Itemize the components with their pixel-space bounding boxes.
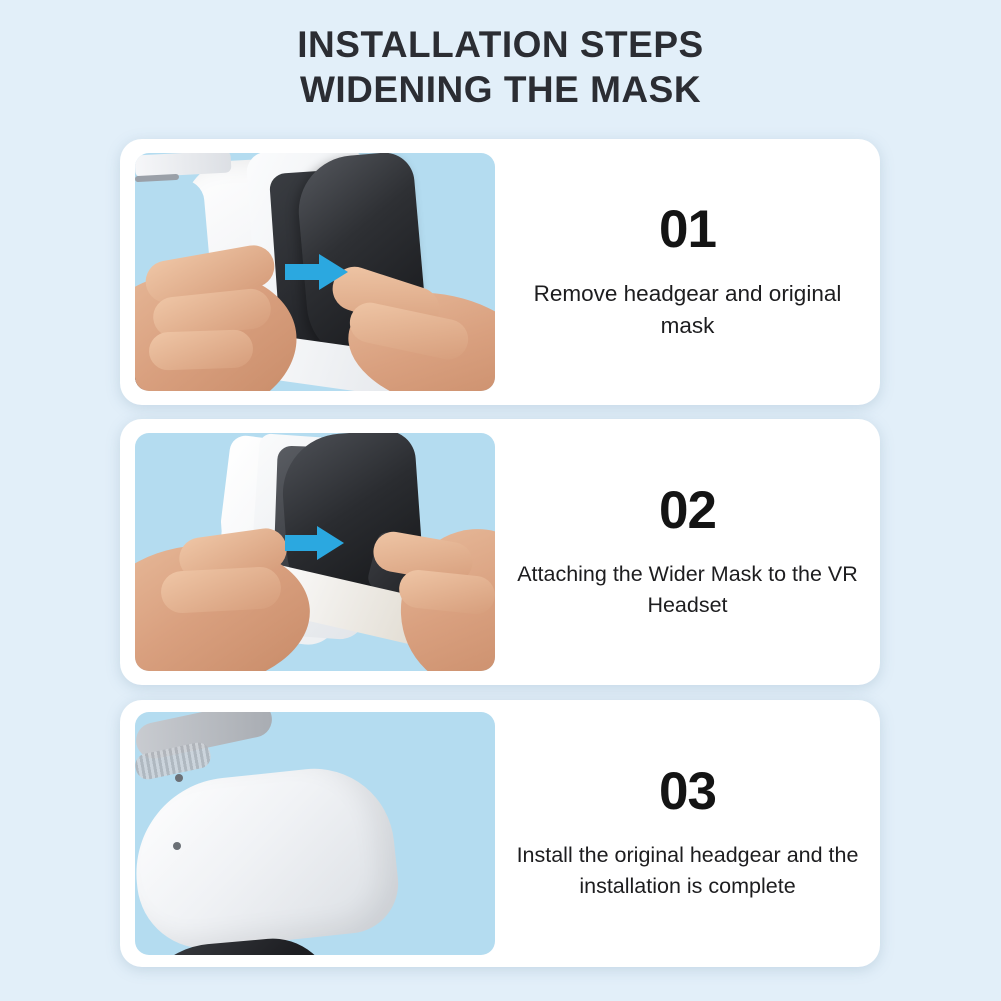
page-title: INSTALLATION STEPS WIDENING THE MASK bbox=[0, 22, 1001, 112]
step-text-2: 02 Attaching the Wider Mask to the VR He… bbox=[495, 484, 880, 620]
step-card-3: 03 Install the original headgear and the… bbox=[120, 700, 880, 967]
step-description-1: Remove headgear and original mask bbox=[513, 278, 863, 342]
title-line-2: WIDENING THE MASK bbox=[0, 67, 1001, 112]
infographic-page: INSTALLATION STEPS WIDENING THE MASK bbox=[0, 0, 1001, 1001]
step-card-2: 02 Attaching the Wider Mask to the VR He… bbox=[120, 419, 880, 685]
step-number-2: 02 bbox=[659, 484, 716, 537]
step-text-3: 03 Install the original headgear and the… bbox=[495, 765, 880, 901]
step-number-3: 03 bbox=[659, 765, 716, 818]
step-card-1: 01 Remove headgear and original mask bbox=[120, 139, 880, 405]
step-image-3 bbox=[135, 712, 495, 955]
title-line-1: INSTALLATION STEPS bbox=[0, 22, 1001, 67]
step-description-2: Attaching the Wider Mask to the VR Heads… bbox=[511, 559, 864, 620]
step-description-3: Install the original headgear and the in… bbox=[511, 840, 864, 901]
direction-arrow-icon bbox=[285, 253, 349, 291]
step-number-1: 01 bbox=[659, 203, 716, 256]
direction-arrow-icon bbox=[285, 525, 345, 561]
step-image-1 bbox=[135, 153, 495, 391]
step-text-1: 01 Remove headgear and original mask bbox=[495, 203, 880, 342]
step-image-2 bbox=[135, 433, 495, 671]
